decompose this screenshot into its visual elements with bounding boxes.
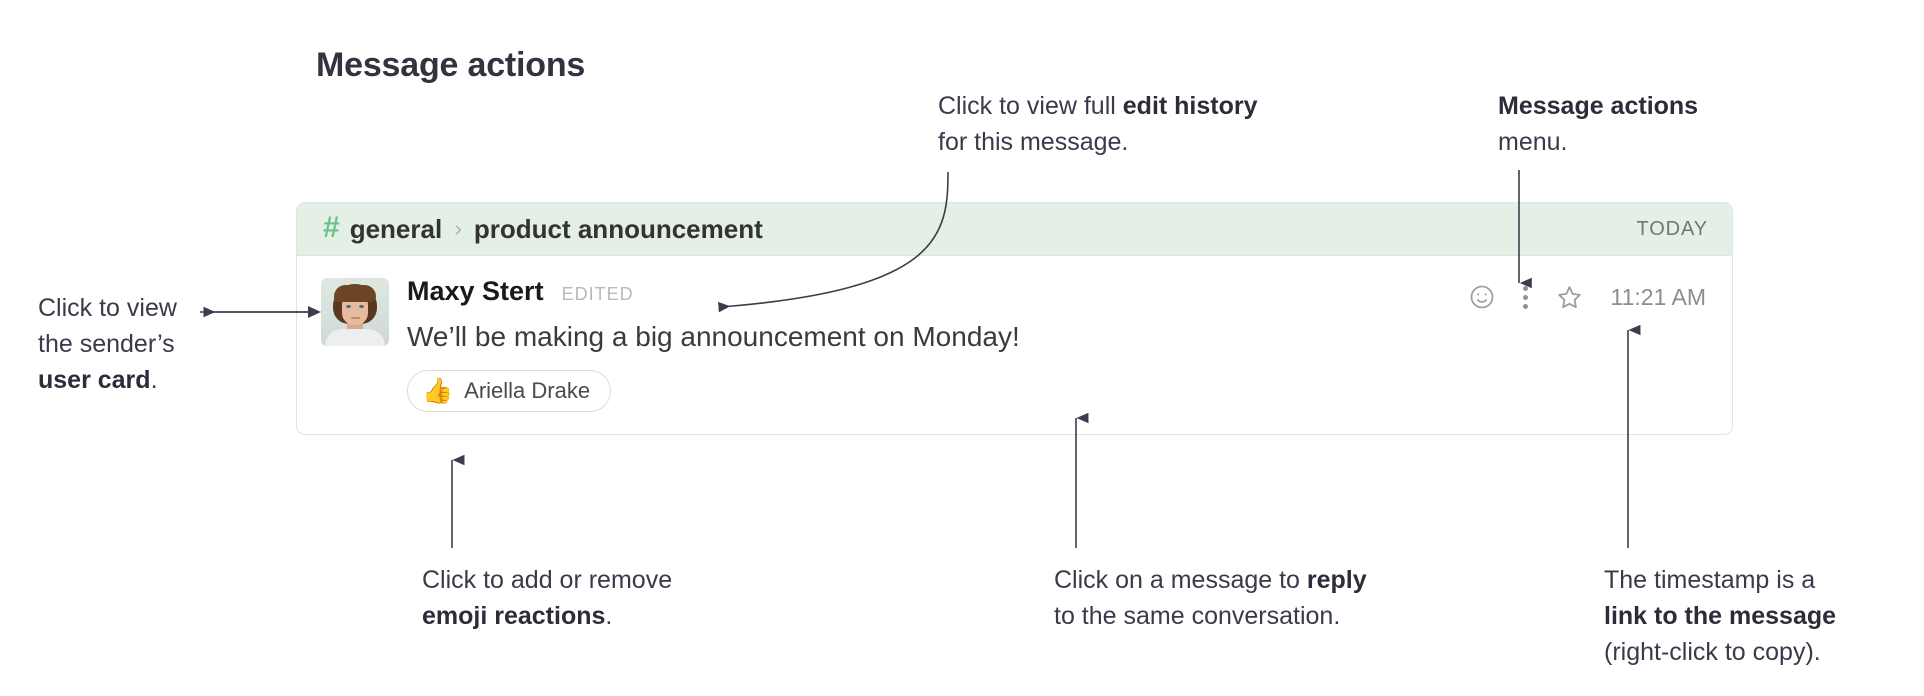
- date-label: TODAY: [1636, 218, 1708, 241]
- reaction-pill[interactable]: 👍 Ariella Drake: [407, 370, 611, 412]
- thumbs-up-emoji: 👍: [422, 379, 453, 404]
- anno-user-card-line1: Click to view: [38, 294, 177, 322]
- anno-timestamp-line1: The timestamp is a: [1604, 566, 1815, 594]
- avatar-eye-left: [346, 305, 351, 308]
- reaction-label: Ariella Drake: [464, 378, 590, 404]
- anno-menu-line2: menu.: [1498, 128, 1567, 156]
- anno-menu-line1-bold: Message actions: [1498, 92, 1698, 120]
- annotation-reactions: Click to add or remove emoji reactions.: [422, 562, 672, 634]
- topic-name-link[interactable]: product announcement: [474, 214, 763, 245]
- dot: [1523, 295, 1528, 300]
- anno-reactions-line2-post: .: [605, 602, 612, 630]
- chevron-right-icon: ›: [454, 215, 462, 242]
- dot: [1523, 286, 1528, 291]
- avatar-eye-right: [359, 305, 364, 308]
- dot: [1523, 304, 1528, 309]
- annotation-actions-menu: Message actions menu.: [1498, 88, 1698, 160]
- stream-topic-bar: # general › product announcement TODAY: [297, 203, 1732, 256]
- annotation-reply: Click on a message to reply to the same …: [1054, 562, 1367, 634]
- emoji-reaction-icon[interactable]: [1467, 282, 1497, 312]
- anno-timestamp-line2-bold: link to the message: [1604, 602, 1836, 630]
- stream-name-link[interactable]: general: [350, 214, 443, 245]
- anno-user-card-line3-post: .: [151, 366, 158, 394]
- anno-edit-history-line1-pre: Click to view full: [938, 92, 1123, 120]
- avatar-mouth: [351, 317, 360, 319]
- annotation-edit-history: Click to view full edit history for this…: [938, 88, 1258, 160]
- edited-badge[interactable]: EDITED: [562, 284, 634, 305]
- message-timestamp-link[interactable]: 11:21 AM: [1611, 284, 1706, 311]
- anno-user-card-line3-bold: user card: [38, 366, 151, 394]
- sender-name[interactable]: Maxy Stert: [407, 276, 544, 307]
- star-icon[interactable]: [1555, 282, 1585, 312]
- avatar-shoulders: [325, 329, 385, 346]
- anno-reactions-line2-bold: emoji reactions: [422, 602, 605, 630]
- anno-edit-history-line1-bold: edit history: [1123, 92, 1258, 120]
- message-row[interactable]: Maxy Stert EDITED We’ll be making a big …: [297, 256, 1732, 434]
- message-actions-menu-icon[interactable]: [1519, 282, 1533, 312]
- anno-timestamp-line3: (right-click to copy).: [1604, 638, 1821, 666]
- hash-icon: #: [323, 213, 340, 243]
- anno-reply-line2: to the same conversation.: [1054, 602, 1340, 630]
- anno-reply-line1-bold: reply: [1307, 566, 1367, 594]
- annotation-timestamp: The timestamp is a link to the message (…: [1604, 562, 1836, 670]
- annotation-user-card: Click to view the sender’s user card.: [38, 290, 177, 398]
- page-title: Message actions: [316, 46, 585, 85]
- message-controls: 11:21 AM: [1467, 282, 1706, 312]
- avatar[interactable]: [321, 278, 389, 346]
- message-card: # general › product announcement TODAY M…: [296, 202, 1733, 435]
- anno-reactions-line1: Click to add or remove: [422, 566, 672, 594]
- anno-user-card-line2: the sender’s: [38, 330, 175, 358]
- avatar-fringe: [334, 285, 376, 302]
- anno-edit-history-line2: for this message.: [938, 128, 1128, 156]
- reactions-list: 👍 Ariella Drake: [407, 370, 1708, 412]
- anno-reply-line1-pre: Click on a message to: [1054, 566, 1307, 594]
- message-text[interactable]: We’ll be making a big announcement on Mo…: [407, 318, 1708, 356]
